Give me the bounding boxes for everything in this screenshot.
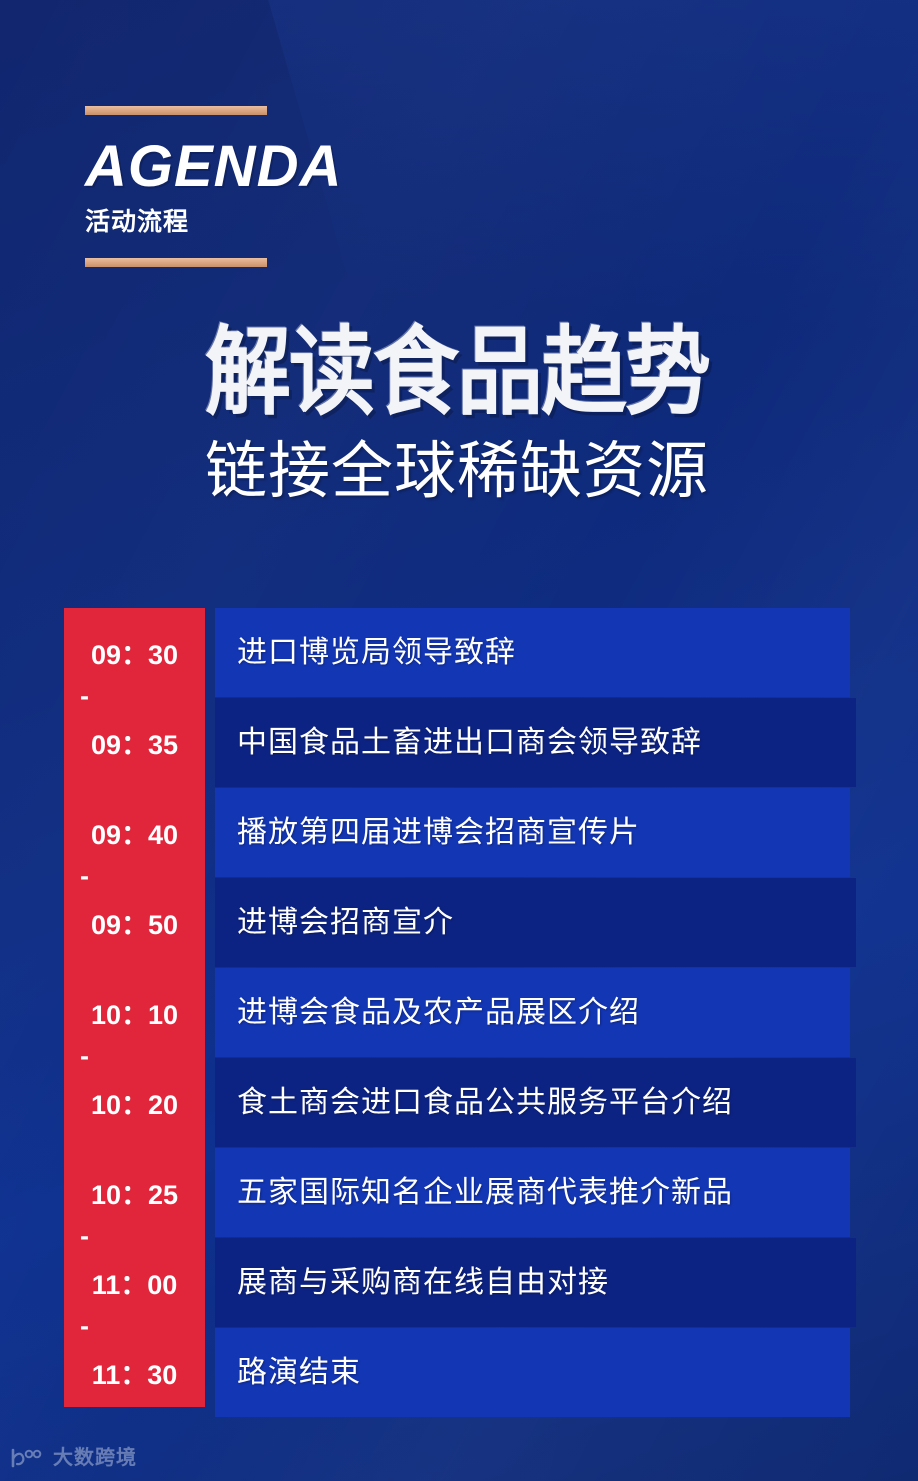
event-rows: 进口博览局领导致辞中国食品土畜进出口商会领导致辞播放第四届进博会招商宣传片进博会… bbox=[215, 608, 856, 1407]
rule-bottom-divider bbox=[85, 258, 267, 267]
watermark-brand-text: 大数跨境 bbox=[53, 1448, 137, 1468]
event-label: 播放第四届进博会招商宣传片 bbox=[215, 818, 640, 848]
table-row: 食土商会进口食品公共服务平台介绍 bbox=[215, 1058, 856, 1147]
time-slot: 09：40- bbox=[64, 788, 205, 877]
event-label: 五家国际知名企业展商代表推介新品 bbox=[215, 1178, 733, 1208]
watermark: 大数跨境 bbox=[10, 1447, 137, 1469]
event-label: 进博会招商宣介 bbox=[215, 908, 454, 938]
agenda-header: AGENDA 活动流程 bbox=[85, 106, 342, 235]
poster-canvas: AGENDA 活动流程 解读食品趋势 链接全球稀缺资源 09：30-09：350… bbox=[0, 0, 918, 1481]
hero-subtitle: 链接全球稀缺资源 bbox=[205, 441, 709, 503]
time-column: 09：30-09：3509：40-09：5010：10-10：2010：25-1… bbox=[64, 608, 205, 1407]
time-slot: 09：30- bbox=[64, 608, 205, 697]
time-slot: 10：20 bbox=[64, 1058, 205, 1147]
time-slot: 09：50 bbox=[64, 878, 205, 967]
agenda-title-en: AGENDA bbox=[85, 138, 342, 196]
time-slot: 09：35 bbox=[64, 698, 205, 787]
agenda-title-cn: 活动流程 bbox=[85, 210, 342, 235]
table-row: 五家国际知名企业展商代表推介新品 bbox=[215, 1148, 850, 1237]
event-label: 中国食品土畜进出口商会领导致辞 bbox=[215, 728, 702, 758]
event-label: 展商与采购商在线自由对接 bbox=[215, 1268, 609, 1298]
time-label: 10：10 bbox=[64, 993, 205, 1032]
time-slot: 10：10- bbox=[64, 968, 205, 1057]
rule-top-divider bbox=[85, 106, 267, 115]
table-row: 中国食品土畜进出口商会领导致辞 bbox=[215, 698, 856, 787]
table-row: 路演结束 bbox=[215, 1328, 850, 1417]
table-row: 进博会招商宣介 bbox=[215, 878, 856, 967]
time-label: 11：30 bbox=[64, 1353, 205, 1392]
time-label: 09：50 bbox=[64, 903, 205, 942]
time-label: 09：35 bbox=[64, 723, 205, 762]
time-label: 09：40 bbox=[64, 813, 205, 852]
table-row: 展商与采购商在线自由对接 bbox=[215, 1238, 856, 1327]
event-label: 路演结束 bbox=[215, 1358, 361, 1388]
event-label: 食土商会进口食品公共服务平台介绍 bbox=[215, 1088, 733, 1118]
time-slot: 11：30 bbox=[64, 1328, 205, 1417]
hero-title: 解读食品趋势 bbox=[205, 325, 709, 421]
time-slot: 10：25- bbox=[64, 1148, 205, 1237]
time-label: 10：25 bbox=[64, 1173, 205, 1212]
table-row: 进口博览局领导致辞 bbox=[215, 608, 850, 697]
event-label: 进博会食品及农产品展区介绍 bbox=[215, 998, 640, 1028]
event-label: 进口博览局领导致辞 bbox=[215, 638, 516, 668]
table-row: 进博会食品及农产品展区介绍 bbox=[215, 968, 850, 1057]
time-label: 09：30 bbox=[64, 633, 205, 672]
time-slot: 11：00- bbox=[64, 1238, 205, 1327]
time-label: 11：00 bbox=[64, 1263, 205, 1302]
brand-logo-icon bbox=[10, 1447, 44, 1469]
time-label: 10：20 bbox=[64, 1083, 205, 1122]
hero-block: 解读食品趋势 链接全球稀缺资源 bbox=[205, 325, 709, 503]
schedule-table: 09：30-09：3509：40-09：5010：10-10：2010：25-1… bbox=[64, 608, 856, 1407]
table-row: 播放第四届进博会招商宣传片 bbox=[215, 788, 850, 877]
